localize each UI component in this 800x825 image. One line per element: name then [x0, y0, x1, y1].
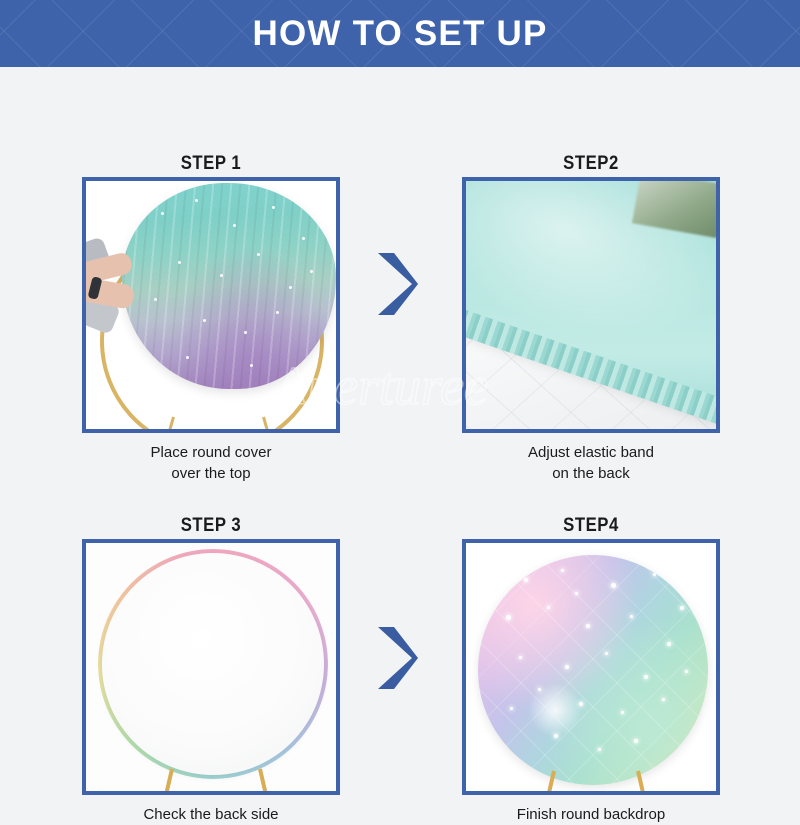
- step-photo-frame-1: [82, 177, 340, 433]
- white-backside-disc: [102, 553, 324, 775]
- step-photo-4: [466, 543, 716, 791]
- step-photo-1: [86, 181, 336, 429]
- step-photo-frame-4: [462, 539, 720, 795]
- steps-grid: STEP 1: [0, 67, 800, 800]
- step-label-3: STEP 3: [97, 513, 324, 539]
- step-card-4: STEP4: [462, 513, 720, 825]
- step-card-3: STEP 3 Check the back side: [82, 513, 340, 825]
- step-caption-2-line-2: on the back: [462, 463, 720, 484]
- step-label-1: STEP 1: [97, 151, 324, 177]
- step-caption-3-line-1: Check the back side: [82, 804, 340, 825]
- finished-backdrop-disc: [478, 555, 708, 785]
- step-photo-frame-2: [462, 177, 720, 433]
- step-photo-2: [466, 181, 716, 429]
- step-caption-2-line-1: Adjust elastic band: [462, 442, 720, 463]
- step-label-4: STEP4: [477, 513, 704, 539]
- backdrop-sparkles: [478, 555, 708, 785]
- step-photo-frame-3: [82, 539, 340, 795]
- step-caption-1-line-1: Place round cover: [82, 442, 340, 463]
- chevron-right-icon: [372, 249, 418, 319]
- step-caption-1: Place round cover over the top: [82, 442, 340, 484]
- cloth-sparkles: [122, 183, 336, 389]
- step-caption-4-line-1: Finish round backdrop: [462, 804, 720, 825]
- step-photo-3: [86, 543, 336, 791]
- chevron-right-icon: [372, 623, 418, 693]
- page-header-banner: HOW TO SET UP: [0, 0, 800, 67]
- step-card-2: STEP2 Adjust elastic band on the back: [462, 151, 720, 484]
- step-caption-3: Check the back side: [82, 804, 340, 825]
- gradient-cover-cloth: [122, 183, 336, 389]
- step-label-2: STEP2: [477, 151, 704, 177]
- page-title: HOW TO SET UP: [0, 0, 800, 67]
- step-caption-4: Finish round backdrop: [462, 804, 720, 825]
- step-card-1: STEP 1: [82, 151, 340, 484]
- step-caption-2: Adjust elastic band on the back: [462, 442, 720, 484]
- step-caption-1-line-2: over the top: [82, 463, 340, 484]
